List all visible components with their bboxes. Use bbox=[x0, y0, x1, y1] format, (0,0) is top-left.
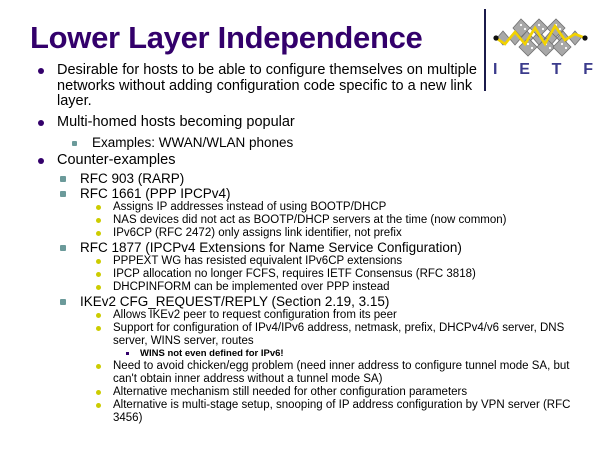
list-item-text: RFC 903 (RARP) bbox=[80, 171, 530, 186]
bullet-level1-icon bbox=[38, 68, 44, 74]
slide-canvas: Lower Layer Independence bbox=[0, 0, 600, 450]
page-title: Lower Layer Independence bbox=[30, 22, 480, 55]
list-item: RFC 1661 (PPP IPCPv4) bbox=[0, 186, 600, 201]
list-item: RFC 1877 (IPCPv4 Extensions for Name Ser… bbox=[0, 240, 600, 255]
list-item-text: WINS not even defined for IPv6! bbox=[140, 348, 600, 360]
list-item-text: Allows IKEv2 peer to request configurati… bbox=[113, 309, 583, 322]
list-item: RFC 903 (RARP) bbox=[0, 171, 600, 186]
list-item: Alternative is multi-stage setup, snoopi… bbox=[0, 399, 600, 425]
ietf-diamonds-icon bbox=[491, 14, 591, 62]
list-item-text: Alternative is multi-stage setup, snoopi… bbox=[113, 399, 583, 425]
list-item-text: RFC 1877 (IPCPv4 Extensions for Name Ser… bbox=[80, 240, 530, 255]
bullet-level3-icon bbox=[96, 403, 101, 408]
list-item: IPCP allocation no longer FCFS, requires… bbox=[0, 268, 600, 281]
bullet-level3-icon bbox=[96, 259, 101, 264]
list-item-text: IKEv2 CFG_REQUEST/REPLY (Section 2.19, 3… bbox=[80, 294, 530, 309]
list-item-text: Need to avoid chicken/egg problem (need … bbox=[113, 360, 583, 386]
list-item: Alternative mechanism still needed for o… bbox=[0, 386, 600, 399]
list-item-text: Assigns IP addresses instead of using BO… bbox=[113, 201, 583, 214]
bullet-level2-icon bbox=[72, 141, 77, 146]
bullet-level2-icon bbox=[60, 176, 66, 182]
list-item-text: Examples: WWAN/WLAN phones bbox=[92, 135, 600, 150]
list-item: Assigns IP addresses instead of using BO… bbox=[0, 201, 600, 214]
bullet-level3-icon bbox=[96, 313, 101, 318]
list-item: Need to avoid chicken/egg problem (need … bbox=[0, 360, 600, 386]
bullet-level3-icon bbox=[96, 205, 101, 210]
list-item: Counter-examples bbox=[0, 153, 600, 169]
bullet-level3-icon bbox=[96, 218, 101, 223]
list-item-text: IPCP allocation no longer FCFS, requires… bbox=[113, 268, 583, 281]
bullet-level3-icon bbox=[96, 272, 101, 277]
bullet-level1-icon bbox=[38, 120, 44, 126]
list-item: PPPEXT WG has resisted equivalent IPv6CP… bbox=[0, 255, 600, 268]
list-item: Desirable for hosts to be able to config… bbox=[0, 63, 600, 110]
list-item-text: RFC 1661 (PPP IPCPv4) bbox=[80, 186, 530, 201]
bullet-level4-icon bbox=[126, 352, 129, 355]
list-item-text: DHCPINFORM can be implemented over PPP i… bbox=[113, 281, 583, 294]
bullet-level3-icon bbox=[96, 390, 101, 395]
list-item-text: Multi-homed hosts becoming popular bbox=[57, 115, 502, 131]
list-item-text: Alternative mechanism still needed for o… bbox=[113, 386, 583, 399]
list-item: IKEv2 CFG_REQUEST/REPLY (Section 2.19, 3… bbox=[0, 294, 600, 309]
bullet-level2-icon bbox=[60, 299, 66, 305]
list-item: Support for configuration of IPv4/IPv6 a… bbox=[0, 322, 600, 348]
bullet-level2-icon bbox=[60, 245, 66, 251]
list-item-text: NAS devices did not act as BOOTP/DHCP se… bbox=[113, 214, 583, 227]
list-item-text: IPv6CP (RFC 2472) only assigns link iden… bbox=[113, 227, 583, 240]
bullet-level3-icon bbox=[96, 326, 101, 331]
bullet-level3-icon bbox=[96, 231, 101, 236]
list-item-text: Desirable for hosts to be able to config… bbox=[57, 63, 502, 110]
list-item: NAS devices did not act as BOOTP/DHCP se… bbox=[0, 214, 600, 227]
list-item: DHCPINFORM can be implemented over PPP i… bbox=[0, 281, 600, 294]
list-item: WINS not even defined for IPv6! bbox=[0, 348, 600, 360]
list-item-text: PPPEXT WG has resisted equivalent IPv6CP… bbox=[113, 255, 583, 268]
list-item: IPv6CP (RFC 2472) only assigns link iden… bbox=[0, 227, 600, 240]
slide-body: Desirable for hosts to be able to config… bbox=[0, 63, 600, 425]
list-item-text: Counter-examples bbox=[57, 153, 502, 169]
bullet-level2-icon bbox=[60, 191, 66, 197]
bullet-level3-icon bbox=[96, 285, 101, 290]
list-item: Examples: WWAN/WLAN phones bbox=[0, 135, 600, 150]
list-item-text: Support for configuration of IPv4/IPv6 a… bbox=[113, 322, 583, 348]
list-item: Allows IKEv2 peer to request configurati… bbox=[0, 309, 600, 322]
list-item: Multi-homed hosts becoming popular bbox=[0, 115, 600, 131]
bullet-level3-icon bbox=[96, 364, 101, 369]
bullet-level1-icon bbox=[38, 158, 44, 164]
